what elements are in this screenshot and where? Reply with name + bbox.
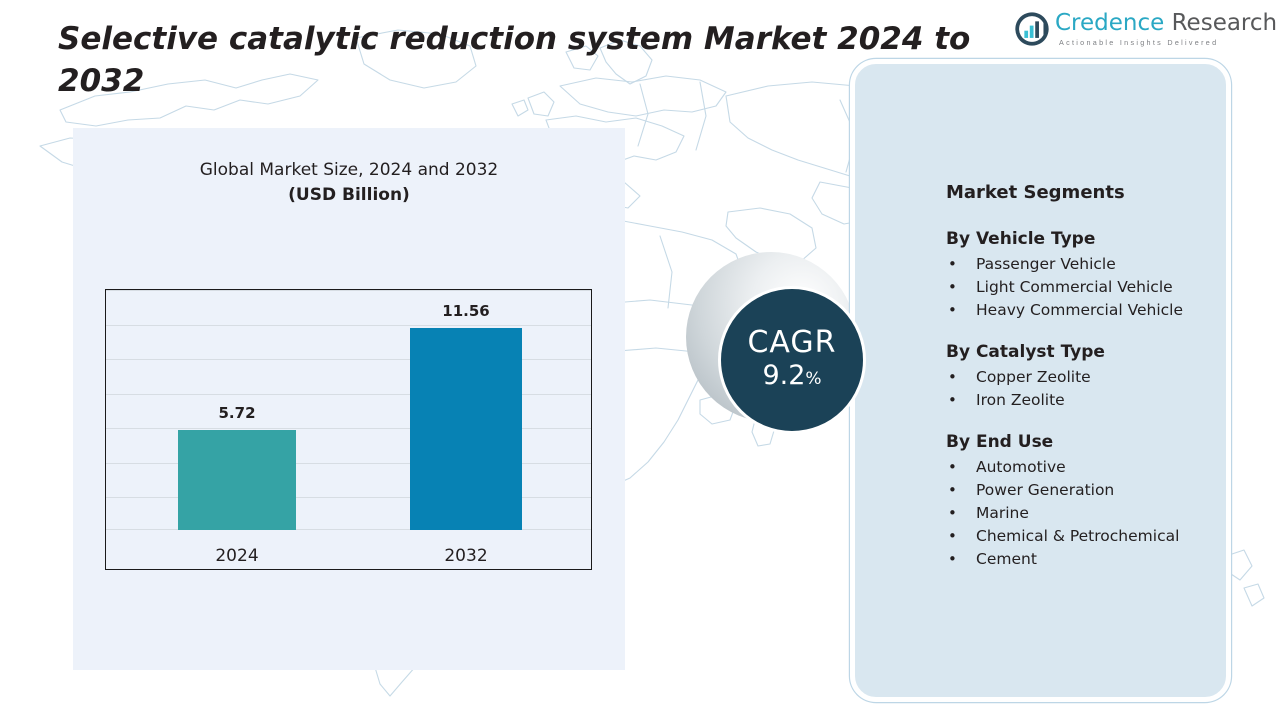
cagr-value: 9.2% <box>762 361 821 394</box>
bar-2024[interactable]: 5.722024 <box>178 430 296 530</box>
segment-item-label: Power Generation <box>976 481 1114 499</box>
bullet-icon: • <box>948 456 957 479</box>
segment-item-label: Passenger Vehicle <box>976 255 1116 273</box>
segment-group-heading: By Catalyst Type <box>946 340 1246 364</box>
bullet-icon: • <box>948 253 957 276</box>
logo-wordmark: Credence Research <box>1055 9 1277 37</box>
bullet-icon: • <box>948 479 957 502</box>
logo-word-credence: Credence <box>1055 10 1164 36</box>
segments-group-list: By Vehicle Type•Passenger Vehicle•Light … <box>946 227 1246 571</box>
segment-item[interactable]: •Power Generation <box>946 479 1246 502</box>
chart-subtitle: (USD Billion) <box>73 182 625 208</box>
bullet-icon: • <box>948 276 957 299</box>
bullet-icon: • <box>948 525 957 548</box>
segment-item-label: Iron Zeolite <box>976 391 1065 409</box>
segment-item-label: Marine <box>976 504 1029 522</box>
bar-value-label: 11.56 <box>442 302 489 320</box>
bar-2032[interactable]: 11.562032 <box>410 328 522 530</box>
bar-value-label: 5.72 <box>218 404 255 422</box>
brand-logo: Credence Research Actionable Insights De… <box>1015 11 1240 55</box>
segment-group-heading: By End Use <box>946 430 1246 454</box>
segment-item[interactable]: •Copper Zeolite <box>946 366 1246 389</box>
chart-heading: Global Market Size, 2024 and 2032 (USD B… <box>73 158 625 208</box>
segment-item[interactable]: •Passenger Vehicle <box>946 253 1246 276</box>
cagr-percent-sign: % <box>805 369 821 389</box>
logo-tagline: Actionable Insights Delivered <box>1059 38 1218 47</box>
segment-item[interactable]: •Light Commercial Vehicle <box>946 276 1246 299</box>
chart-title: Global Market Size, 2024 and 2032 <box>73 158 625 182</box>
bullet-icon: • <box>948 502 957 525</box>
segment-item-label: Cement <box>976 550 1037 568</box>
page-title: Selective catalytic reduction system Mar… <box>58 18 978 102</box>
segment-item[interactable]: •Cement <box>946 548 1246 571</box>
logo-word-research: Research <box>1164 10 1277 36</box>
segment-item-label: Automotive <box>976 458 1066 476</box>
segment-group: By End Use•Automotive•Power Generation•M… <box>946 430 1246 571</box>
segment-item[interactable]: •Heavy Commercial Vehicle <box>946 299 1246 322</box>
bullet-icon: • <box>948 548 957 571</box>
segment-group: By Vehicle Type•Passenger Vehicle•Light … <box>946 227 1246 322</box>
bullet-icon: • <box>948 299 957 322</box>
credence-circle-bar-chart-icon <box>1015 12 1049 46</box>
cagr-badge: CAGR 9.2% <box>718 286 866 434</box>
segments-content: Market Segments By Vehicle Type•Passenge… <box>946 181 1246 571</box>
segment-group-heading: By Vehicle Type <box>946 227 1246 251</box>
cagr-label: CAGR <box>747 327 836 359</box>
segment-item[interactable]: •Marine <box>946 502 1246 525</box>
segment-item-label: Chemical & Petrochemical <box>976 527 1179 545</box>
chart-plot-area: 5.72202411.562032 <box>106 290 591 569</box>
infographic-canvas: Selective catalytic reduction system Mar… <box>0 0 1280 720</box>
segment-group: By Catalyst Type•Copper Zeolite•Iron Zeo… <box>946 340 1246 412</box>
bar-category-label: 2032 <box>444 546 487 566</box>
bar-category-label: 2024 <box>215 546 258 566</box>
segment-item-label: Copper Zeolite <box>976 368 1091 386</box>
segment-item-label: Light Commercial Vehicle <box>976 278 1173 296</box>
bar-chart: 5.72202411.562032 <box>105 289 592 570</box>
segment-item[interactable]: •Chemical & Petrochemical <box>946 525 1246 548</box>
segment-item[interactable]: •Iron Zeolite <box>946 389 1246 412</box>
segment-item-label: Heavy Commercial Vehicle <box>976 301 1183 319</box>
bullet-icon: • <box>948 389 957 412</box>
segments-heading: Market Segments <box>946 181 1246 205</box>
cagr-number: 9.2 <box>762 360 805 391</box>
segment-item[interactable]: •Automotive <box>946 456 1246 479</box>
bullet-icon: • <box>948 366 957 389</box>
